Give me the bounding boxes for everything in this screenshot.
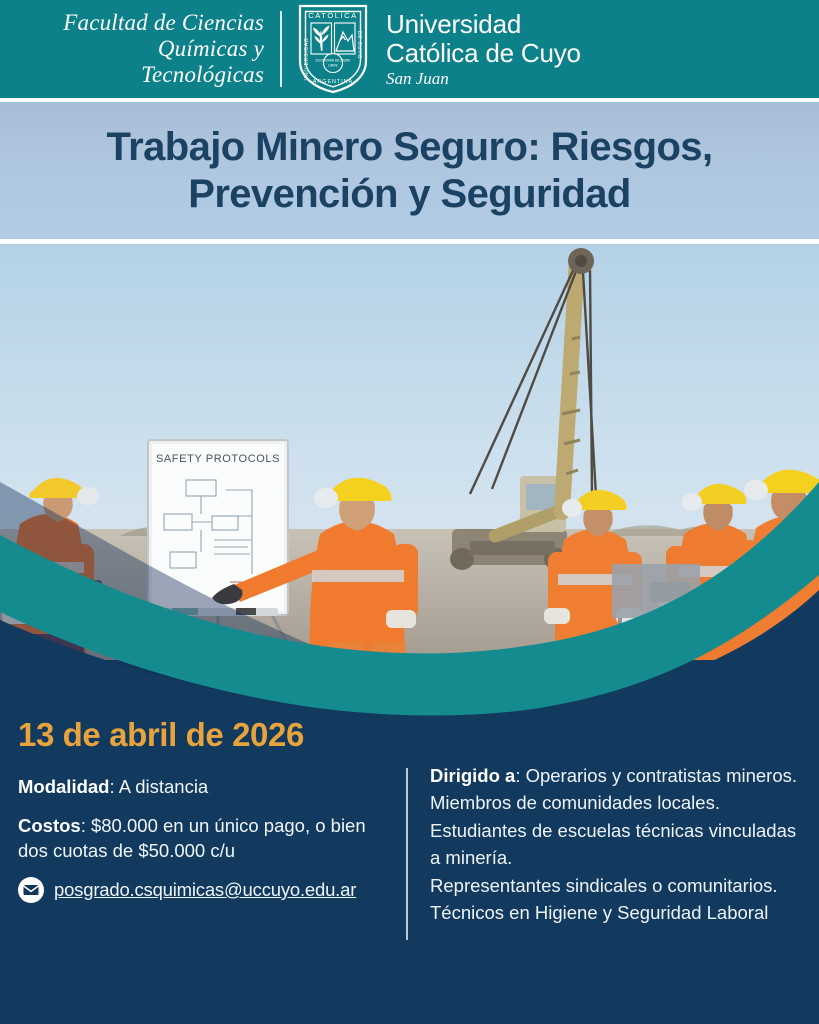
column-divider xyxy=(406,768,408,940)
hero-photo: SAFETY PROTOCOLS xyxy=(0,244,819,660)
poster-root: Facultad de Ciencias Químicas y Tecnológ… xyxy=(0,0,819,1024)
dirigido-value: : Operarios y contratistas mineros. Miem… xyxy=(430,765,797,924)
university-location: San Juan xyxy=(386,69,581,89)
modalidad-label: Modalidad xyxy=(18,776,109,797)
email-row[interactable]: posgrado.csquimicas@uccuyo.edu.ar xyxy=(18,877,388,903)
envelope-icon xyxy=(18,877,44,903)
crest-bottom-text: ARGENTINA xyxy=(313,79,353,85)
email-link[interactable]: posgrado.csquimicas@uccuyo.edu.ar xyxy=(54,879,356,901)
header-bar: Facultad de Ciencias Químicas y Tecnológ… xyxy=(0,0,819,98)
university-crest-icon: ECONOMIA DE LIBRE LIBRE CATÓLICA ARGENTI… xyxy=(296,3,370,95)
costos-label: Costos xyxy=(18,815,81,836)
page-title: Trabajo Minero Seguro: Riesgos, Prevenci… xyxy=(30,124,790,218)
info-right-column: Dirigido a: Operarios y contratistas min… xyxy=(430,734,802,927)
flipchart-label: SAFETY PROTOCOLS xyxy=(156,453,280,465)
crest-right-text: DE CUYO xyxy=(356,31,362,59)
event-date: 13 de abril de 2026 xyxy=(18,716,388,754)
info-left-column: 13 de abril de 2026 Modalidad: A distanc… xyxy=(18,716,388,903)
faculty-name: Facultad de Ciencias Químicas y Tecnológ… xyxy=(26,10,264,88)
university-name-block: Universidad Católica de Cuyo San Juan xyxy=(386,10,581,89)
modalidad-value: : A distancia xyxy=(109,776,208,797)
university-line2: Católica de Cuyo xyxy=(386,39,581,68)
crest-top-text: CATÓLICA xyxy=(308,11,357,20)
costos-row: Costos: $80.000 en un único pago, o bien… xyxy=(18,813,388,863)
info-section: 13 de abril de 2026 Modalidad: A distanc… xyxy=(0,700,819,1024)
crest-left-text: UNIVERSIDAD xyxy=(304,38,310,81)
university-line1: Universidad xyxy=(386,10,581,39)
svg-text:LIBRE: LIBRE xyxy=(328,64,339,68)
header-divider xyxy=(280,11,282,87)
crest-motto: ECONOMIA DE LIBRE xyxy=(316,59,351,63)
title-band: Trabajo Minero Seguro: Riesgos, Prevenci… xyxy=(0,102,819,239)
modalidad-row: Modalidad: A distancia xyxy=(18,774,388,799)
dirigido-label: Dirigido a xyxy=(430,765,515,786)
